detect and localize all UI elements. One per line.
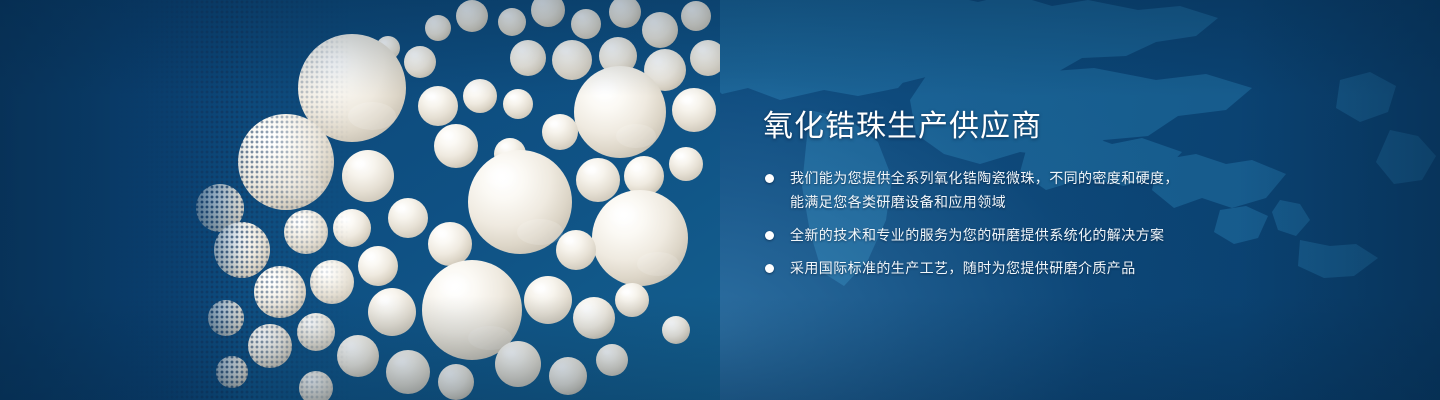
bullet-text-line2: 能满足您各类研磨设备和应用领域 [790,190,1403,214]
bullet-text-line1: 全新的技术和专业的服务为您的研磨提供系统化的解决方案 [790,227,1164,243]
bullet-dot-icon [765,231,774,240]
bullet-text-line1: 我们能为您提供全系列氧化锆陶瓷微珠，不同的密度和硬度， [790,170,1179,186]
banner-headline: 氧化锆珠生产供应商 [763,108,1403,146]
list-item: 全新的技术和专业的服务为您的研磨提供系统化的解决方案 [763,223,1403,247]
hero-banner: 氧化锆珠生产供应商 我们能为您提供全系列氧化锆陶瓷微珠，不同的密度和硬度， 能满… [0,0,1440,400]
bullet-dot-icon [765,174,774,183]
bullet-dot-icon [765,264,774,273]
bullet-text-line1: 采用国际标准的生产工艺，随时为您提供研磨介质产品 [790,260,1136,276]
banner-feature-list: 我们能为您提供全系列氧化锆陶瓷微珠，不同的密度和硬度， 能满足您各类研磨设备和应… [763,166,1403,280]
list-item: 采用国际标准的生产工艺，随时为您提供研磨介质产品 [763,256,1403,280]
banner-text-block: 氧化锆珠生产供应商 我们能为您提供全系列氧化锆陶瓷微珠，不同的密度和硬度， 能满… [763,108,1403,280]
list-item: 我们能为您提供全系列氧化锆陶瓷微珠，不同的密度和硬度， 能满足您各类研磨设备和应… [763,166,1403,214]
